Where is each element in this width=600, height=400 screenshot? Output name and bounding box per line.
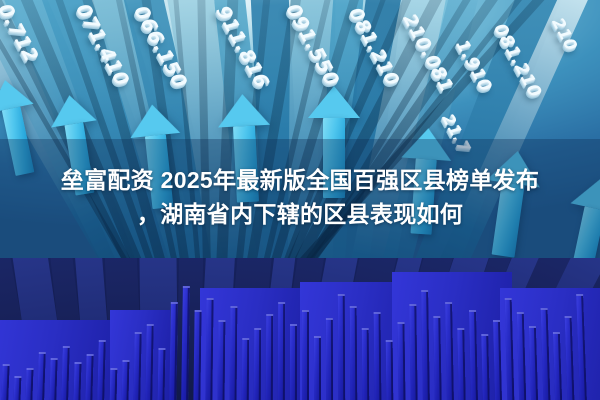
chart-bar <box>386 340 394 400</box>
chart-bar <box>1 364 9 400</box>
chart-bar <box>398 322 406 400</box>
banner-image: 0.712071.410066.150911.816091.550081.210… <box>0 0 600 400</box>
chart-bar <box>290 324 297 400</box>
lower-bar-chart-scene <box>0 258 600 400</box>
chart-bar <box>278 302 285 400</box>
chart-bar <box>158 348 166 400</box>
chart-bar <box>481 334 490 400</box>
chart-bar <box>314 336 321 400</box>
chart-bar <box>242 338 249 400</box>
chart-bar <box>205 298 213 400</box>
arrow-head <box>47 92 97 128</box>
arrow-head <box>308 86 360 118</box>
chart-bar <box>14 376 22 400</box>
chart-bar <box>326 318 333 400</box>
chart-bar <box>338 294 346 400</box>
chart-bar <box>218 320 226 400</box>
chart-bar <box>193 310 201 400</box>
chart-bar <box>49 358 57 400</box>
chart-bar <box>133 332 141 400</box>
chart-bar <box>122 360 130 400</box>
chart-bar <box>85 354 93 400</box>
chart-bar <box>302 310 309 400</box>
chart-bar <box>254 328 261 400</box>
chart-bar <box>362 328 370 400</box>
chart-bar <box>433 316 441 400</box>
chart-bar <box>110 368 118 400</box>
arrow-head <box>216 93 270 128</box>
chart-bar <box>457 328 465 400</box>
chart-bar <box>230 306 238 400</box>
chart-bar <box>145 324 153 400</box>
chart-bar <box>25 368 33 400</box>
caption-text: 垒富配资 2025年最新版全国百强区县榜单发布 ，湖南省内下辖的区县表现如何 <box>0 139 600 258</box>
chart-bar <box>374 312 382 400</box>
chart-bar <box>350 306 358 400</box>
arrow-head <box>127 102 180 138</box>
chart-bar <box>73 362 81 400</box>
chart-bar <box>266 314 273 400</box>
chart-bar <box>409 304 417 400</box>
caption-line-1: 垒富配资 2025年最新版全国百强区县榜单发布 <box>30 163 570 197</box>
caption-line-2: ，湖南省内下辖的区县表现如何 <box>30 197 570 231</box>
